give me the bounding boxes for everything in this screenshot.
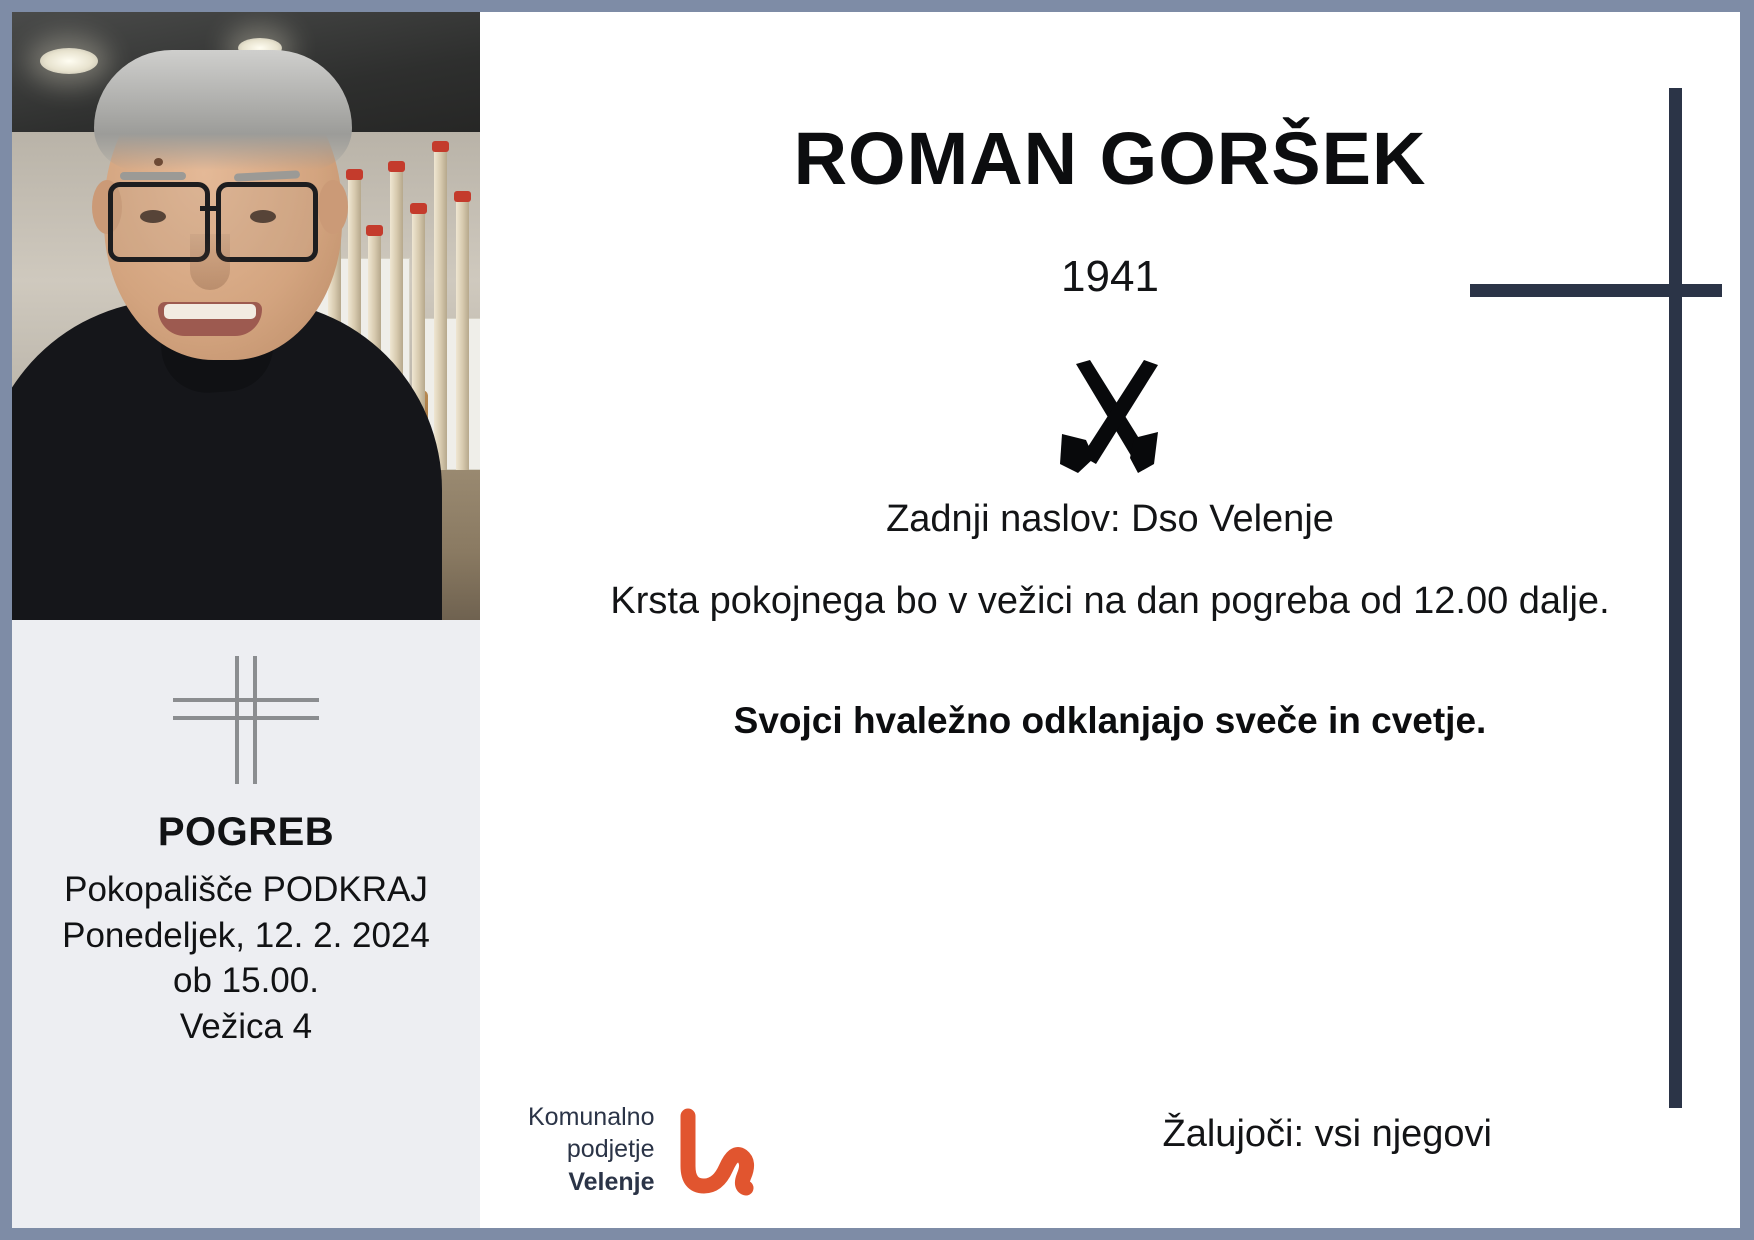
company-logo-line-3: Velenje bbox=[528, 1166, 654, 1199]
photo-pole bbox=[434, 150, 447, 470]
kpv-k-logo-mark-icon bbox=[672, 1106, 758, 1198]
deceased-name: ROMAN GORŠEK bbox=[480, 116, 1740, 201]
company-logo: Komunalno podjetje Velenje bbox=[528, 1101, 758, 1199]
company-logo-line-1: Komunalno bbox=[528, 1101, 654, 1134]
family-request-note: Svojci hvaležno odklanjajo sveče in cvet… bbox=[540, 700, 1680, 742]
last-address: Zadnji naslov: Dso Velenje bbox=[480, 498, 1740, 541]
photo-person-mole bbox=[154, 158, 163, 166]
gray-cross-vertical-bar bbox=[235, 656, 257, 784]
gray-cross-icon bbox=[173, 656, 319, 784]
notice-inner: POGREB Pokopališče PODKRAJ Ponedeljek, 1… bbox=[12, 12, 1740, 1228]
funeral-time: ob 15.00. bbox=[62, 958, 430, 1004]
right-column: ROMAN GORŠEK 1941 Zad bbox=[480, 12, 1740, 1228]
photo-person-eyebrow bbox=[120, 172, 186, 180]
photo-person-eyeglasses bbox=[216, 182, 318, 262]
photo-person-hair bbox=[94, 50, 352, 170]
funeral-date: Ponedeljek, 12. 2. 2024 bbox=[62, 913, 430, 959]
company-logo-text: Komunalno podjetje Velenje bbox=[528, 1101, 654, 1199]
left-column: POGREB Pokopališče PODKRAJ Ponedeljek, 1… bbox=[12, 12, 480, 1228]
deceased-birth-year: 1941 bbox=[480, 252, 1740, 302]
navy-cross-vertical-bar bbox=[1669, 88, 1682, 1108]
photo-ceiling-lamp bbox=[40, 48, 98, 74]
miner-hammer-and-pick-icon bbox=[480, 360, 1740, 478]
funeral-details-panel: POGREB Pokopališče PODKRAJ Ponedeljek, 1… bbox=[12, 620, 480, 1228]
deceased-portrait-photo bbox=[12, 12, 480, 620]
photo-person-glasses-bridge bbox=[200, 206, 216, 211]
funeral-info-lines: Pokopališče PODKRAJ Ponedeljek, 12. 2. 2… bbox=[62, 867, 430, 1049]
funeral-chapel: Vežica 4 bbox=[62, 1004, 430, 1050]
memorial-notice: POGREB Pokopališče PODKRAJ Ponedeljek, 1… bbox=[0, 0, 1754, 1240]
photo-person-teeth bbox=[164, 304, 256, 319]
photo-person-nose bbox=[190, 234, 230, 290]
coffin-viewing-note: Krsta pokojnega bo v vežici na dan pogre… bbox=[570, 576, 1650, 627]
funeral-cemetery: Pokopališče PODKRAJ bbox=[62, 867, 430, 913]
funeral-heading: POGREB bbox=[158, 810, 334, 855]
photo-person-ear bbox=[318, 180, 348, 234]
mourners-line: Žalujoči: vsi njegovi bbox=[1163, 1113, 1492, 1156]
company-logo-line-2: podjetje bbox=[528, 1133, 654, 1166]
photo-pole bbox=[456, 200, 469, 470]
photo-person-mouth bbox=[158, 302, 262, 336]
